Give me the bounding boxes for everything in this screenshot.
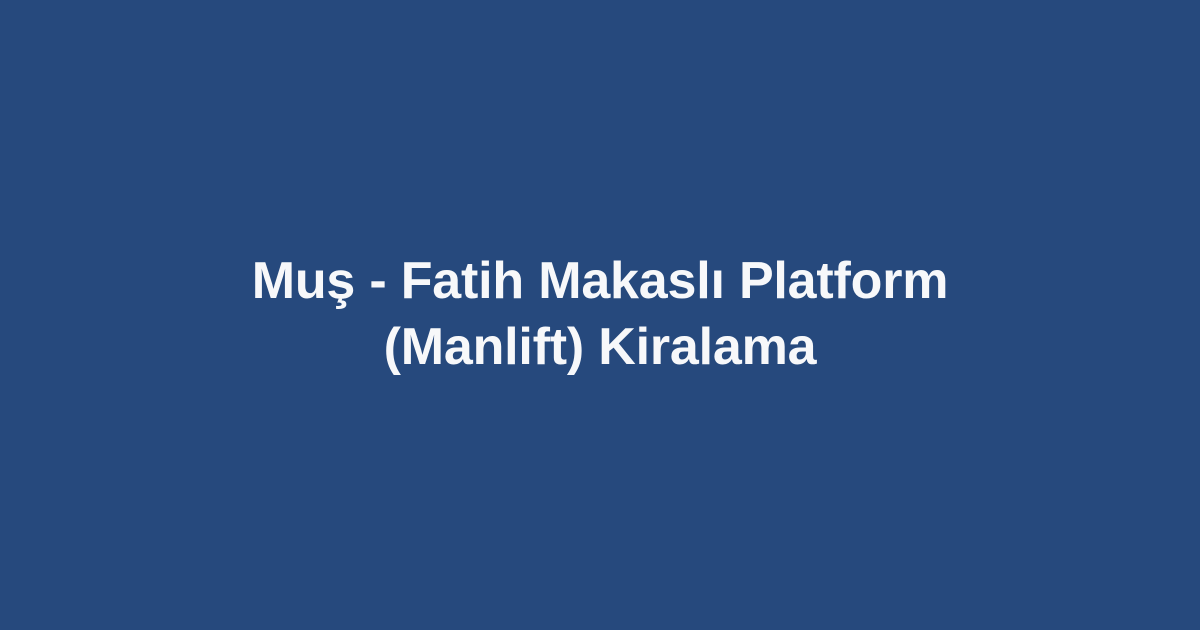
share-card: Muş - Fatih Makaslı Platform (Manlift) K… — [0, 0, 1200, 630]
card-content: Muş - Fatih Makaslı Platform (Manlift) K… — [90, 249, 1110, 380]
page-title: Muş - Fatih Makaslı Platform (Manlift) K… — [220, 249, 980, 380]
